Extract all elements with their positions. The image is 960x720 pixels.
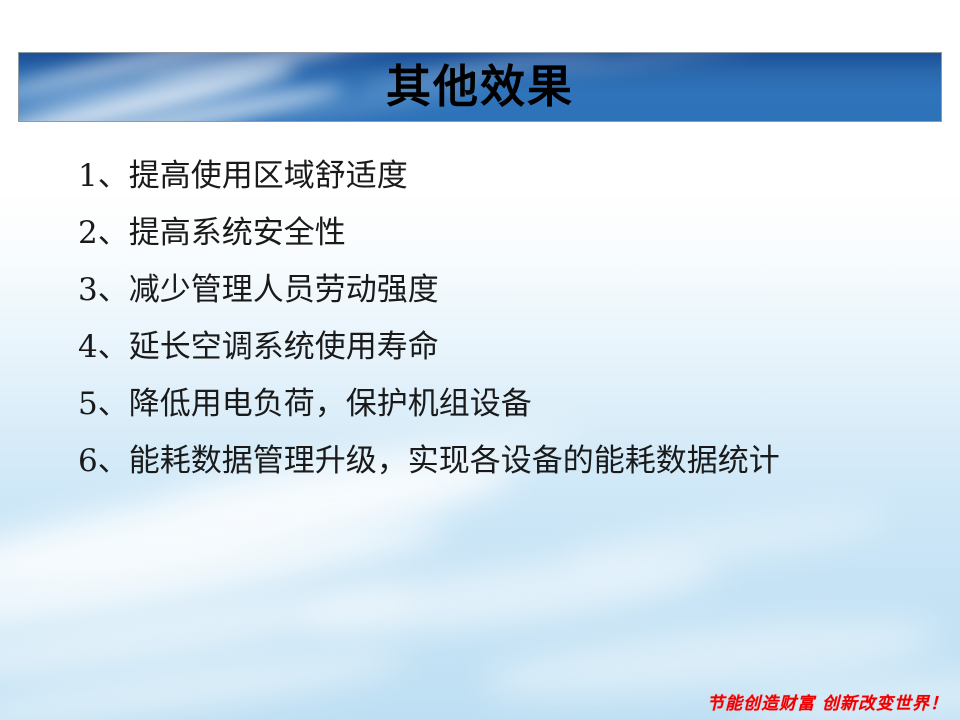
list-item: 2、提高系统安全性: [78, 205, 918, 262]
cloud-wisp: [298, 541, 722, 650]
list-item: 1、提高使用区域舒适度: [78, 148, 918, 205]
cloud-wisp: [0, 636, 411, 720]
cloud-wisp: [559, 497, 891, 583]
bullet-list: 1、提高使用区域舒适度 2、提高系统安全性 3、减少管理人员劳动强度 4、延长空…: [78, 148, 918, 490]
slide-title-banner: 其他效果: [18, 52, 942, 122]
cloud-wisp: [0, 504, 450, 659]
list-item: 6、能耗数据管理升级，实现各设备的能耗数据统计: [78, 433, 918, 490]
list-item: 3、减少管理人员劳动强度: [78, 262, 918, 319]
list-item: 4、延长空调系统使用寿命: [78, 319, 918, 376]
page-title: 其他效果: [19, 53, 941, 121]
list-item: 5、降低用电负荷，保护机组设备: [78, 376, 918, 433]
cloud-wisp: [0, 572, 420, 699]
presentation-slide: 其他效果 1、提高使用区域舒适度 2、提高系统安全性 3、减少管理人员劳动强度 …: [0, 0, 960, 720]
footer-slogan: 节能创造财富 创新改变世界！: [707, 689, 948, 714]
